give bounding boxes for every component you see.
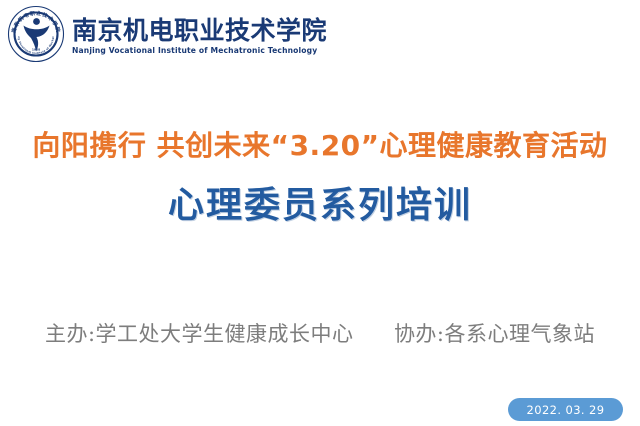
host-organiser: 主办:学工处大学生健康成长中心	[45, 322, 354, 346]
institution-name-cn: 南京机电职业技术学院	[72, 17, 327, 44]
poster-canvas: 南京机电职业技术学院 Nanjing Vocational Institute …	[0, 0, 640, 426]
institution-wordmark: 南京机电职业技术学院 Nanjing Vocational Institute …	[72, 13, 327, 55]
organiser-line: 主办:学工处大学生健康成长中心 协办:各系心理气象站	[0, 318, 640, 348]
institution-name-en: Nanjing Vocational Institute of Mechatro…	[72, 46, 327, 55]
university-seal-icon: 南京机电职业技术学院 Nanjing Vocational Institute …	[6, 4, 66, 64]
date-badge: 2022. 03. 29	[508, 398, 623, 421]
main-title: 向阳携行 共创未来“3.20”心理健康教育活动	[0, 128, 640, 163]
sub-title: 心理委员系列培训	[0, 183, 640, 228]
svg-text:1958: 1958	[32, 48, 40, 52]
title-block: 向阳携行 共创未来“3.20”心理健康教育活动 心理委员系列培训	[0, 128, 640, 228]
co-host-organiser: 协办:各系心理气象站	[394, 322, 595, 346]
institution-header: 南京机电职业技术学院 Nanjing Vocational Institute …	[6, 4, 327, 64]
